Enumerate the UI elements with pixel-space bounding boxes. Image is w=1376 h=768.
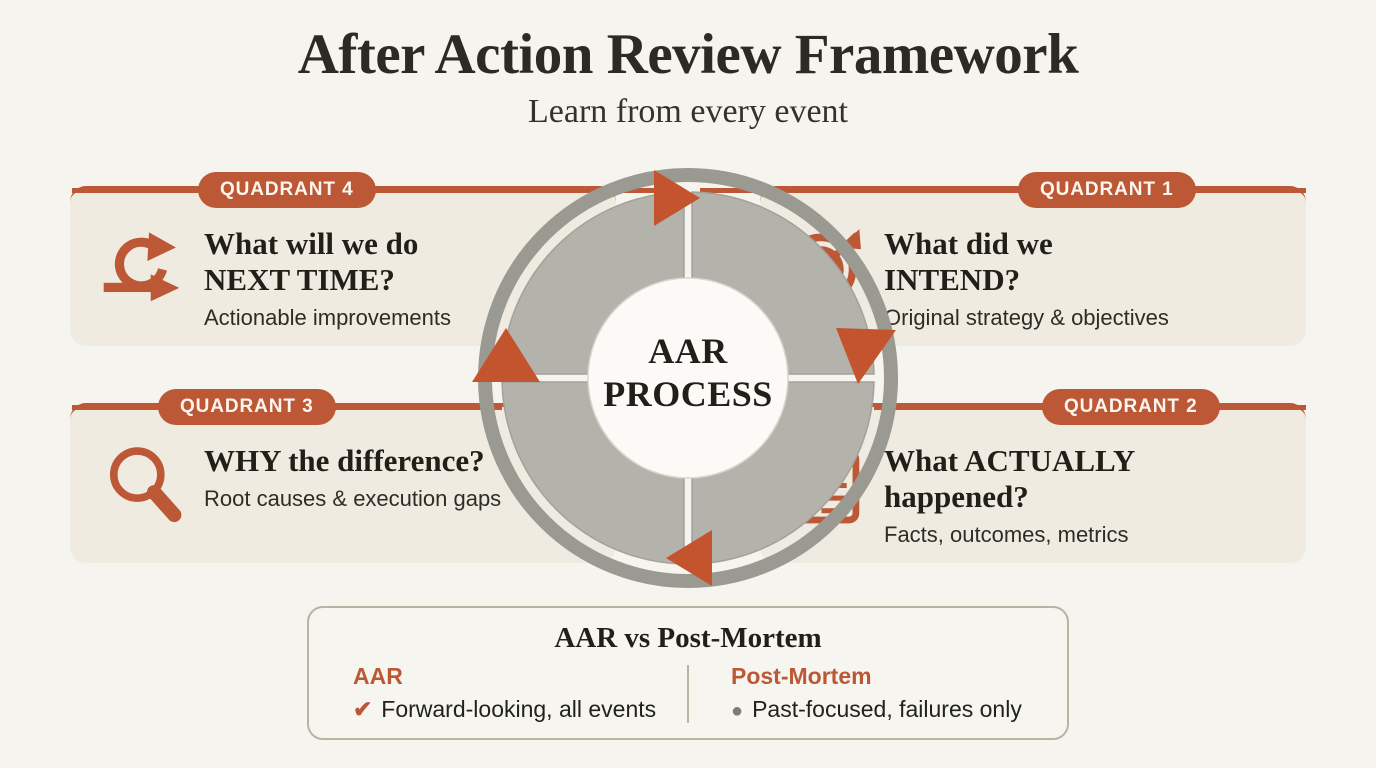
quadrant-4-heading-line1: What will we do: [204, 226, 418, 261]
quadrant-4-heading-line2: NEXT TIME?: [204, 262, 395, 297]
comparison-box: AAR vs Post-Mortem AAR ✔ Forward-looking…: [307, 606, 1069, 740]
badge-quadrant-1[interactable]: QUADRANT 1: [1018, 172, 1196, 208]
comparison-column-aar: AAR ✔ Forward-looking, all events: [309, 663, 687, 729]
bullet-dot-icon: ●: [731, 696, 743, 726]
comparison-column-postmortem: Post-Mortem ● Past-focused, failures onl…: [689, 663, 1067, 729]
header: After Action Review Framework Learn from…: [0, 22, 1376, 134]
comparison-postmortem-heading: Post-Mortem: [731, 663, 1067, 690]
comparison-aar-heading: AAR: [353, 663, 687, 690]
comparison-aar-item: ✔ Forward-looking, all events: [353, 694, 687, 724]
aar-process-wheel: [468, 158, 908, 598]
page-subtitle: Learn from every event: [0, 90, 1376, 134]
comparison-postmortem-text: Past-focused, failures only: [752, 694, 1022, 724]
badge-quadrant-4[interactable]: QUADRANT 4: [198, 172, 376, 208]
wheel-hub: [588, 278, 788, 478]
cycle-arrow-icon: [102, 224, 186, 308]
check-icon: ✔: [353, 694, 372, 724]
quadrant-1-heading-line1: What did we: [884, 226, 1053, 261]
page-title: After Action Review Framework: [0, 22, 1376, 88]
quadrant-1-subtext: Original strategy & objectives: [884, 304, 1290, 332]
badge-quadrant-2[interactable]: QUADRANT 2: [1042, 389, 1220, 425]
infographic-canvas: After Action Review Framework Learn from…: [0, 0, 1376, 768]
comparison-title: AAR vs Post-Mortem: [309, 621, 1067, 655]
badge-quadrant-3[interactable]: QUADRANT 3: [158, 389, 336, 425]
comparison-aar-text: Forward-looking, all events: [381, 694, 656, 724]
quadrant-2-heading-line1: What ACTUALLY: [884, 443, 1135, 478]
magnifier-icon: [102, 441, 186, 525]
quadrant-2-subtext: Facts, outcomes, metrics: [884, 521, 1290, 549]
quadrant-1-heading: What did we INTEND?: [884, 226, 1290, 298]
comparison-postmortem-item: ● Past-focused, failures only: [731, 694, 1067, 726]
quadrant-2-heading: What ACTUALLY happened?: [884, 443, 1290, 515]
